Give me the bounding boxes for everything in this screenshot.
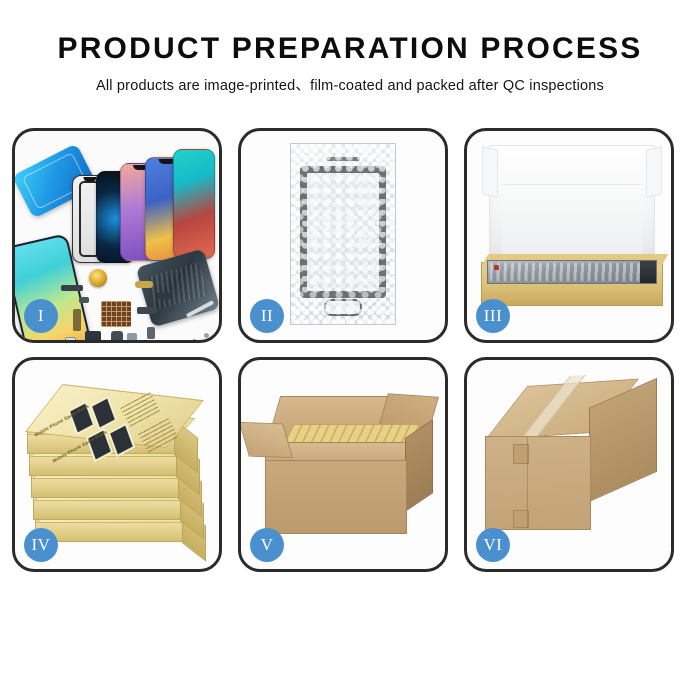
phone-display-teal-icon [173,149,215,259]
spare-part-icon [79,297,89,303]
step-badge-6: VI [476,528,510,562]
carton-seam-icon [527,436,528,528]
process-step-6[interactable]: VI [464,357,674,572]
spare-part-icon [111,331,123,340]
spare-part-icon [137,307,157,314]
chip-array-icon [101,301,131,327]
screw-icon [192,339,197,340]
packed-device-icon [487,260,657,284]
process-step-3[interactable]: III [464,128,674,343]
page-title: PRODUCT PREPARATION PROCESS [0,32,700,65]
step-badge-5: V [250,528,284,562]
process-step-5[interactable]: V [238,357,448,572]
process-step-1[interactable]: I [12,128,222,343]
white-box-lid-icon [489,145,655,259]
coil-part-icon [89,269,107,287]
home-button-icon [324,299,362,316]
spare-part-icon [61,285,83,291]
spare-part-icon [85,331,101,340]
step-badge-3: III [476,299,510,333]
spare-part-icon [65,337,76,340]
process-step-grid: I II III [12,128,688,572]
retail-box-icon [33,496,185,520]
step-badge-4: IV [24,528,58,562]
process-step-4[interactable]: Mobile Phone Spare Parts Mobile Phone Sp… [12,357,222,572]
spare-part-icon [135,281,153,288]
screw-icon [204,333,209,338]
process-step-2[interactable]: II [238,128,448,343]
retail-box-icon [35,518,187,542]
step-badge-2: II [250,299,284,333]
bubble-wrap-sheet-icon [290,143,396,325]
spare-part-icon [157,293,173,299]
page-header: PRODUCT PREPARATION PROCESS All products… [0,0,700,95]
phone-screen-icon [300,166,386,298]
spare-part-icon [73,309,81,331]
carton-front-face-icon [485,436,591,530]
step-badge-1: I [24,299,58,333]
spare-part-icon [127,333,137,340]
phone-speaker-icon [326,157,360,161]
page-subtitle: All products are image-printed、film-coat… [0,74,700,95]
carton-front-face-icon [265,460,407,534]
spare-part-icon [147,327,155,339]
retail-box-icon [31,474,183,498]
